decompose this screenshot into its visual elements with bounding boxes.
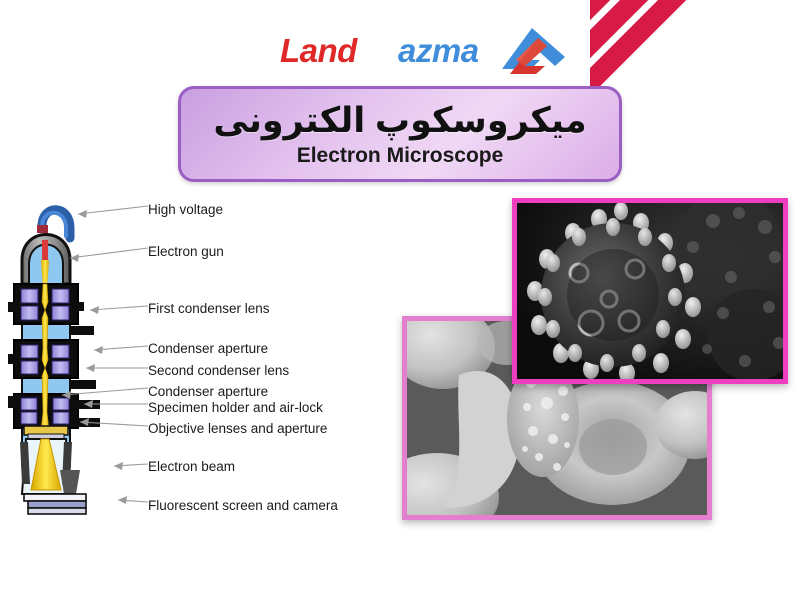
brand-logo[interactable]: Land azma bbox=[276, 24, 536, 82]
title-persian: میکروسکوپ الکترونی bbox=[213, 100, 586, 142]
label-specimen-holder: Specimen holder and air-lock bbox=[148, 400, 323, 416]
label-condenser-aperture-1: Condenser aperture bbox=[148, 341, 268, 357]
logo-word-azma: azma bbox=[398, 34, 479, 68]
label-electron-gun: Electron gun bbox=[148, 244, 224, 260]
leader-lines bbox=[60, 190, 160, 520]
label-electron-beam: Electron beam bbox=[148, 459, 235, 475]
label-objective-lenses: Objective lenses and aperture bbox=[148, 421, 327, 437]
slide-canvas: Land azma میکروسکوپ الکترونی Electron Mi… bbox=[0, 0, 800, 600]
label-condenser-aperture-2: Condenser aperture bbox=[148, 384, 268, 400]
logo-word-land: Land bbox=[280, 34, 357, 68]
label-high-voltage: High voltage bbox=[148, 202, 223, 218]
landazma-triangle-logo-icon bbox=[498, 26, 568, 80]
title-banner: میکروسکوپ الکترونی Electron Microscope bbox=[178, 86, 622, 182]
title-english: Electron Microscope bbox=[297, 144, 504, 168]
sem-coronavirus-photo bbox=[512, 198, 788, 384]
label-second-condenser-lens: Second condenser lens bbox=[148, 363, 289, 379]
label-first-condenser-lens: First condenser lens bbox=[148, 301, 270, 317]
label-fluorescent-screen: Fluorescent screen and camera bbox=[148, 498, 338, 514]
